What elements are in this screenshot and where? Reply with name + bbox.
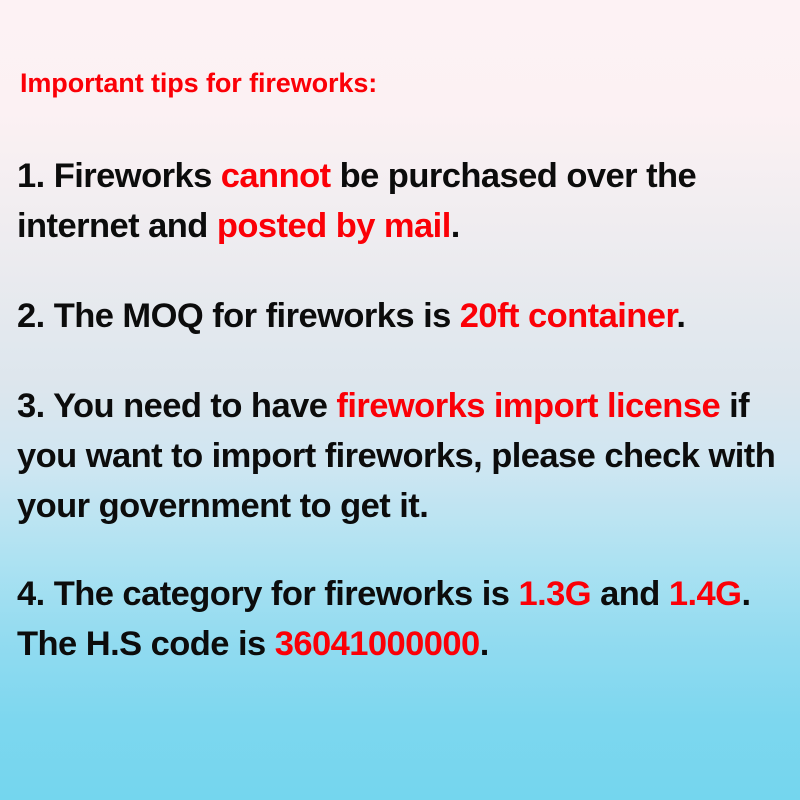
poster-heading: Important tips for fireworks: xyxy=(20,68,377,99)
tip-item-1: 1. Fireworks cannot be purchased over th… xyxy=(17,151,783,251)
tip-item-3: 3. You need to have fireworks import lic… xyxy=(17,381,783,531)
tip-4-highlight-class-13g: 1.3G xyxy=(518,575,591,613)
tip-4-seg-6: . xyxy=(480,625,489,663)
tip-1-highlight-cannot: cannot xyxy=(221,157,331,195)
tip-1-seg-4: . xyxy=(451,207,460,245)
tip-4-seg-0: 4. The category for fireworks is xyxy=(17,575,518,613)
tip-2-seg-2: . xyxy=(676,297,685,335)
tip-4-highlight-hs-code: 36041000000 xyxy=(275,625,480,663)
tip-4-highlight-class-14g: 1.4G xyxy=(669,575,742,613)
tip-item-4: 4. The category for fireworks is 1.3G an… xyxy=(17,569,783,669)
tip-1-highlight-posted-by-mail: posted by mail xyxy=(217,207,451,245)
tip-2-seg-0: 2. The MOQ for fireworks is xyxy=(17,297,460,335)
tip-4-seg-2: and xyxy=(591,575,669,613)
tips-list: 1. Fireworks cannot be purchased over th… xyxy=(17,151,783,669)
tip-2-highlight-moq: 20ft container xyxy=(460,297,677,335)
tip-1-seg-0: 1. Fireworks xyxy=(17,157,221,195)
tip-item-2: 2. The MOQ for fireworks is 20ft contain… xyxy=(17,291,783,341)
tip-3-highlight-import-license: fireworks import license xyxy=(336,387,720,425)
tip-3-seg-0: 3. You need to have xyxy=(17,387,336,425)
fireworks-tips-poster: Important tips for fireworks: 1. Firewor… xyxy=(0,0,800,800)
